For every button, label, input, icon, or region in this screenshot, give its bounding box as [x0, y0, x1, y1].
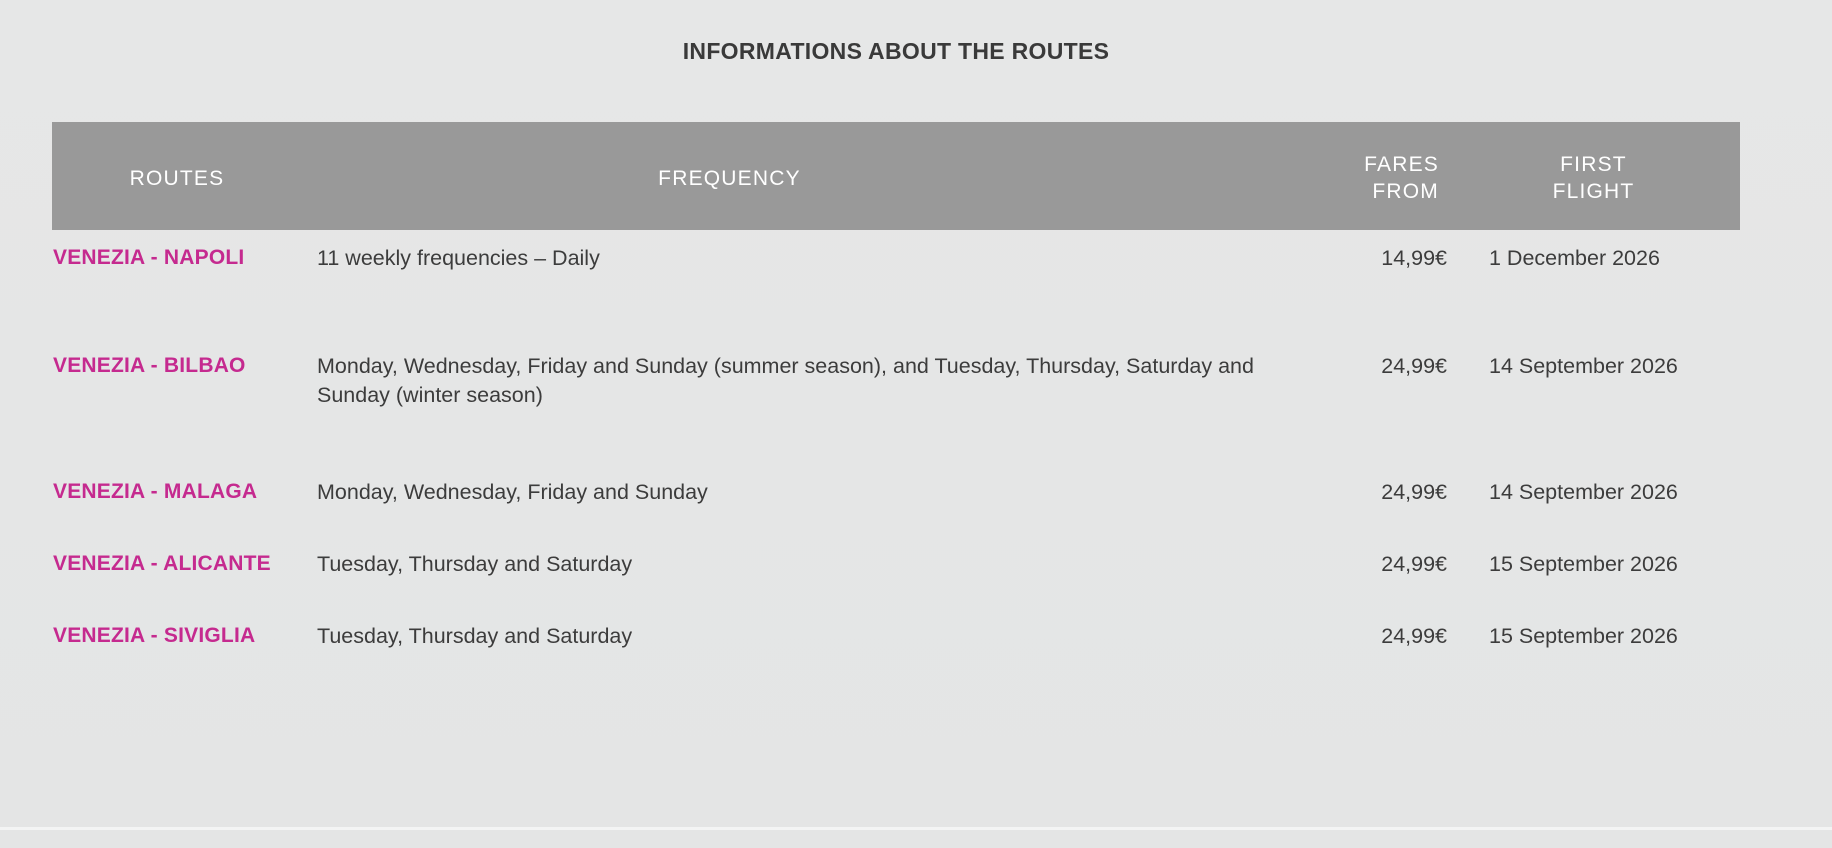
route-frequency: Monday, Wednesday, Friday and Sunday (su…: [302, 352, 1315, 410]
table-row: VENEZIA - NAPOLI 11 weekly frequencies –…: [52, 244, 1740, 352]
route-name: VENEZIA - SIVIGLIA: [52, 622, 302, 650]
routes-info-page: INFORMATIONS ABOUT THE ROUTES ROUTES FRE…: [0, 0, 1832, 848]
route-first-flight: 14 September 2026: [1447, 478, 1740, 507]
column-header-fares-from: FARES FROM: [1157, 122, 1447, 230]
route-first-flight: 15 September 2026: [1447, 550, 1740, 579]
route-fare: 24,99€: [1315, 478, 1447, 507]
route-fare: 14,99€: [1315, 244, 1447, 273]
route-frequency: Tuesday, Thursday and Saturday: [302, 550, 1315, 579]
routes-table: ROUTES FREQUENCY FARES FROM FIRST FLIGHT…: [52, 122, 1740, 694]
route-fare: 24,99€: [1315, 352, 1447, 381]
table-body: VENEZIA - NAPOLI 11 weekly frequencies –…: [52, 230, 1740, 694]
table-header-row: ROUTES FREQUENCY FARES FROM FIRST FLIGHT: [52, 122, 1740, 230]
route-first-flight: 15 September 2026: [1447, 622, 1740, 651]
column-header-first-flight: FIRST FLIGHT: [1447, 122, 1740, 230]
column-header-routes: ROUTES: [52, 122, 302, 230]
route-frequency: Tuesday, Thursday and Saturday: [302, 622, 1315, 651]
route-frequency: Monday, Wednesday, Friday and Sunday: [302, 478, 1315, 507]
table-row: VENEZIA - BILBAO Monday, Wednesday, Frid…: [52, 352, 1740, 478]
route-name: VENEZIA - NAPOLI: [52, 244, 302, 272]
table-row: VENEZIA - SIVIGLIA Tuesday, Thursday and…: [52, 622, 1740, 694]
page-title: INFORMATIONS ABOUT THE ROUTES: [0, 38, 1792, 65]
route-fare: 24,99€: [1315, 622, 1447, 651]
table-row: VENEZIA - ALICANTE Tuesday, Thursday and…: [52, 550, 1740, 622]
route-first-flight: 1 December 2026: [1447, 244, 1740, 273]
route-frequency: 11 weekly frequencies – Daily: [302, 244, 1315, 273]
route-name: VENEZIA - BILBAO: [52, 352, 302, 380]
route-fare: 24,99€: [1315, 550, 1447, 579]
table-row: VENEZIA - MALAGA Monday, Wednesday, Frid…: [52, 478, 1740, 550]
route-name: VENEZIA - MALAGA: [52, 478, 302, 506]
bottom-divider: [0, 827, 1832, 830]
column-header-frequency: FREQUENCY: [302, 122, 1157, 230]
route-first-flight: 14 September 2026: [1447, 352, 1740, 381]
route-name: VENEZIA - ALICANTE: [52, 550, 302, 578]
